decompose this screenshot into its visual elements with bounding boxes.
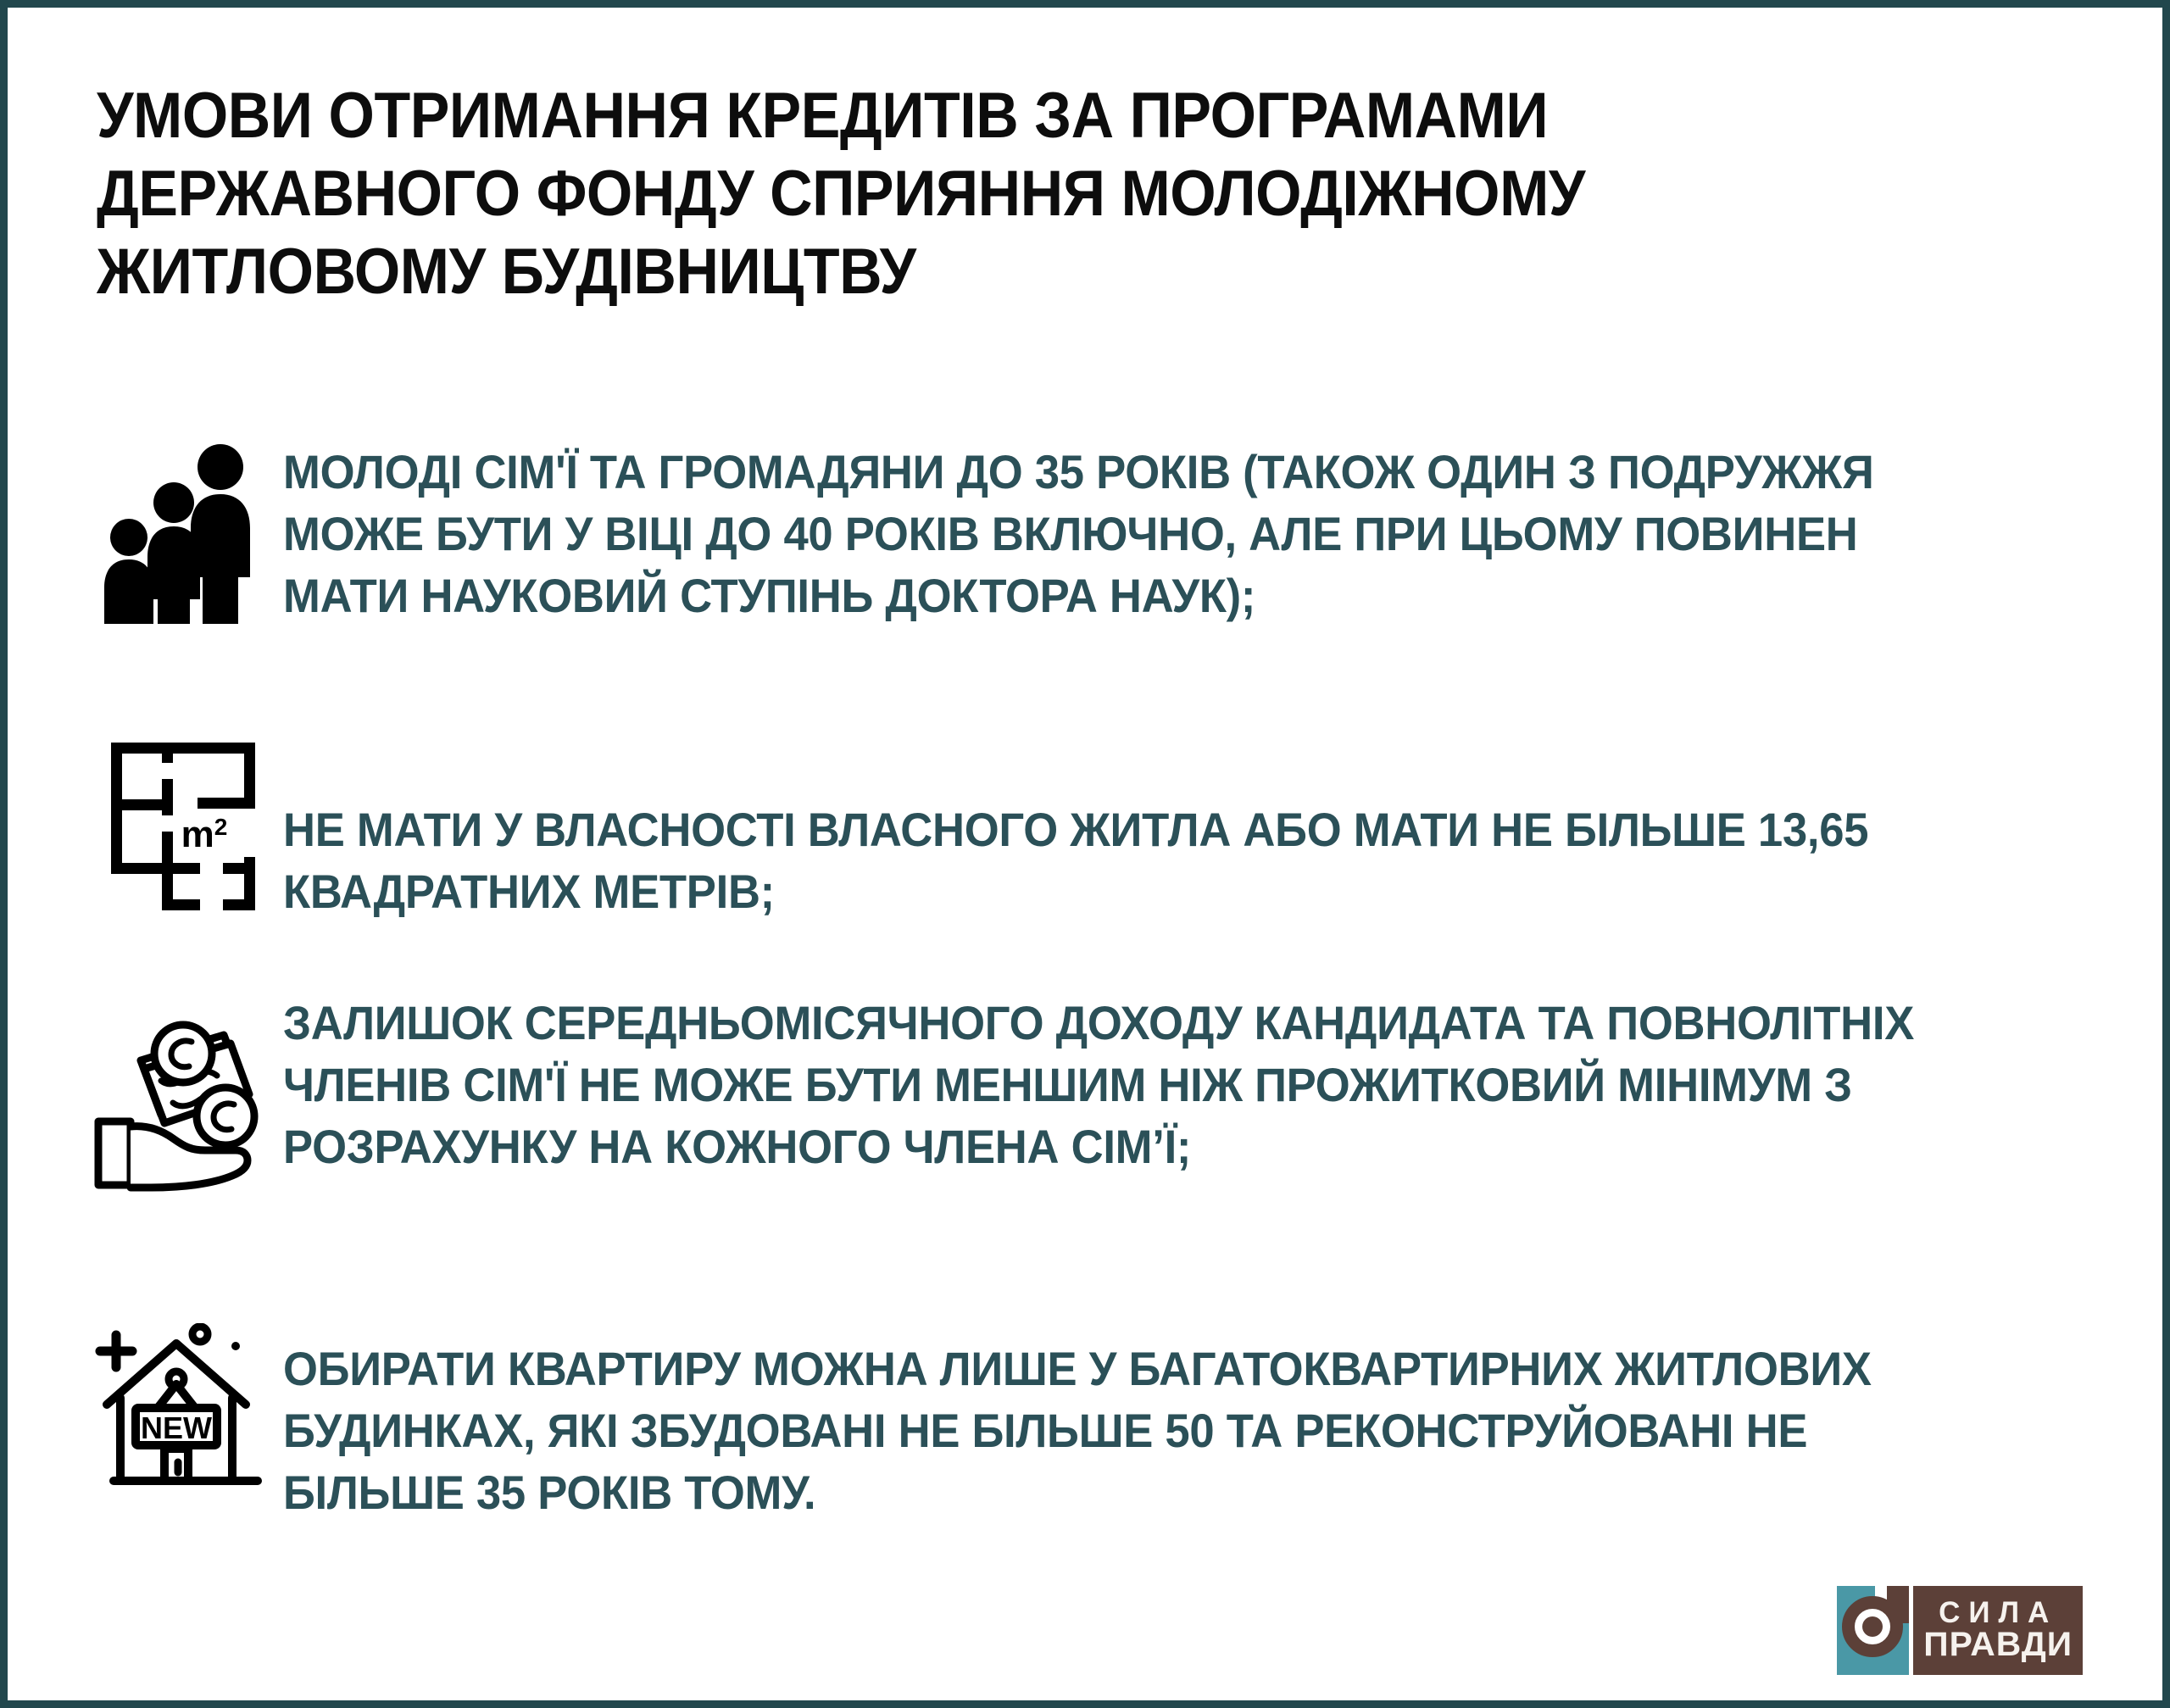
page-title: УМОВИ ОТРИМАННЯ КРЕДИТІВ ЗА ПРОГРАМАМИ Д… [97,77,1859,311]
svg-text:m2: m2 [181,814,228,855]
condition-row: МОЛОДІ СІМ'Ї ТА ГРОМАДЯНИ ДО 35 РОКІВ (Т… [71,442,2080,628]
logo-mark-dot [1862,1616,1883,1637]
condition-icon-cell: NEW [71,1305,283,1510]
hand-with-money-icon [88,1016,266,1203]
logo-line-1: СИЛА [1925,1598,2071,1627]
condition-text: НЕ МАТИ У ВЛАСНОСТІ ВЛАСНОГО ЖИТЛА АБО М… [283,738,1900,923]
condition-icon-cell [71,993,283,1203]
infographic-card: УМОВИ ОТРИМАННЯ КРЕДИТІВ ЗА ПРОГРАМАМИ Д… [0,0,2170,1708]
sila-pravdy-circle-mark [1837,1586,1909,1675]
logo-wordmark: СИЛА ПРАВДИ [1913,1586,2083,1675]
condition-text: МОЛОДІ СІМ'Ї ТА ГРОМАДЯНИ ДО 35 РОКІВ (Т… [283,442,1972,626]
condition-icon-cell [71,442,283,628]
family-group-icon [99,442,256,628]
new-house-sign-label: NEW [141,1410,212,1445]
new-house-icon: NEW [88,1323,266,1510]
sila-pravdy-logo[interactable]: СИЛА ПРАВДИ [1837,1586,2083,1675]
condition-row: m2 НЕ МАТИ У ВЛАСНОСТІ ВЛАСНОГО ЖИТЛА АБ… [71,738,2004,923]
condition-row: NEW ОБИРАТИ КВАРТИРУ МОЖНА ЛИШЕ У БАГАТО… [71,1305,2072,1523]
condition-text: ОБИРАТИ КВАРТИРУ МОЖНА ЛИШЕ У БАГАТОКВАР… [283,1305,1964,1523]
condition-text: ЗАЛИШОК СЕРЕДНЬОМІСЯЧНОГО ДОХОДУ КАНДИДА… [283,993,1949,1177]
condition-row: ЗАЛИШОК СЕРЕДНЬОМІСЯЧНОГО ДОХОДУ КАНДИДА… [71,993,2055,1203]
condition-icon-cell: m2 [71,738,283,916]
floor-plan-icon: m2 [104,738,265,916]
logo-line-2: ПРАВДИ [1923,1627,2073,1661]
